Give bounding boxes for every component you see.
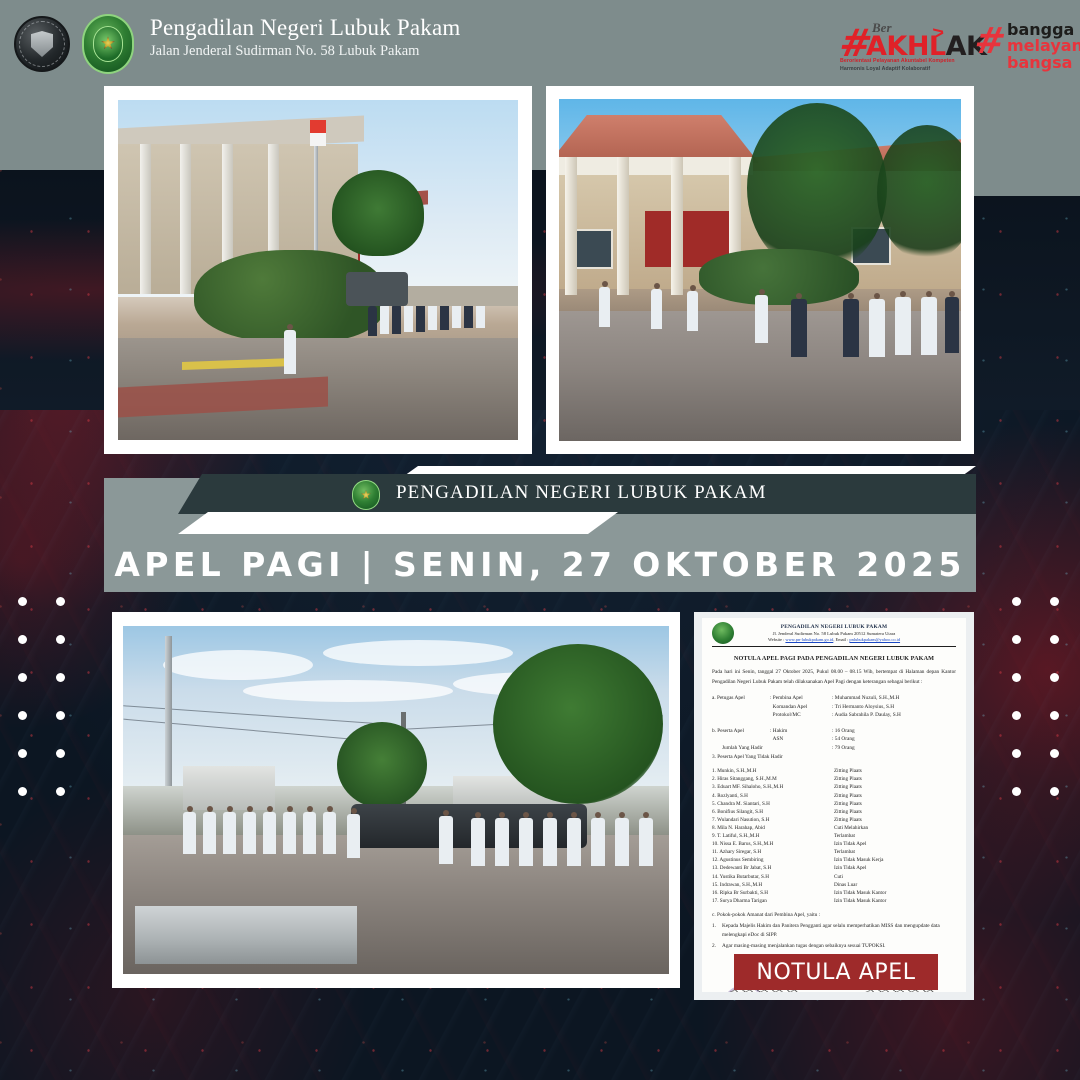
letterhead-line3: Website : www.pn-lubukpakam.go.id, Email… xyxy=(712,637,956,642)
photo3-person-15 xyxy=(591,818,605,866)
list-item: 3. Eduart MF. Sihaloho, S.H.,M.HZitting … xyxy=(712,783,956,791)
photo3-person-8 xyxy=(323,812,336,854)
list-item: 15. Indrawan, S.H.,M.HDinas Luar xyxy=(712,881,956,889)
court-name: Pengadilan Negeri Lubuk Pakam xyxy=(150,16,460,40)
photo-apel-formation-parking xyxy=(123,626,669,974)
bangga-melayani-bangsa-logo: # bangga melayani bangsa xyxy=(975,20,1075,72)
photo1-person-1 xyxy=(368,306,377,336)
document-letterhead: PENGADILAN NEGERI LUBUK PAKAM Jl. Jender… xyxy=(702,618,966,642)
jumlah-row: Jumlah Yang Hadir : 79 Orang xyxy=(712,744,956,753)
peserta-label: b. Peserta Apel xyxy=(712,727,770,736)
jumlah-label: Jumlah Yang Hadir xyxy=(712,744,832,753)
photo1-column-2 xyxy=(180,144,191,294)
photo1-palm-tree xyxy=(332,170,424,256)
photo2-person-3 xyxy=(687,291,698,331)
court-address: Jalan Jenderal Sudirman No. 58 Lubuk Pak… xyxy=(150,42,460,60)
photo3-big-tree xyxy=(493,644,663,804)
photo3-cloud-1 xyxy=(163,650,313,680)
list-item: 4. Rozlyanti, S.HZitting Plaats xyxy=(712,792,956,800)
dot xyxy=(18,635,27,644)
banner-ribbon-text: PENGADILAN NEGERI LUBUK PAKAM xyxy=(396,482,767,504)
letterhead-line2: Jl. Jenderal Sudirman No. 58 Lubuk Pakam… xyxy=(712,631,956,636)
photo3-tree-2 xyxy=(337,722,427,808)
list-item: 2. Hiras Sitanggang, S.H.,M.MZitting Pla… xyxy=(712,775,956,783)
petugas-row-3: Protokol/MC : Audia Sabrahila P. Daulay,… xyxy=(712,711,956,720)
photo3-person-9 xyxy=(347,814,360,858)
photo1-column-1 xyxy=(140,144,151,294)
tidak-hadir-label: 3. Peserta Apel Yang Tidak Hadir xyxy=(712,753,956,762)
akhlak-values-line1: Berorientasi Pelayanan Akuntabel Kompete… xyxy=(840,58,955,64)
list-item: 9. T. Latiful, S.H.,M.HTerlambat xyxy=(712,832,956,840)
photo3-person-6 xyxy=(283,812,296,854)
photo3-person-16 xyxy=(615,818,629,866)
photo1-person-2 xyxy=(380,304,389,334)
peserta-value-2: : 54 Orang xyxy=(832,735,956,744)
photo2-person-7 xyxy=(921,297,937,355)
photo2-person-5 xyxy=(869,299,885,357)
photo2-person-officer-1 xyxy=(791,299,807,357)
photo2-person-2 xyxy=(651,289,662,329)
petugas-label: a. Petugas Apel xyxy=(712,694,770,703)
list-item: 1. Munkin, S.H.,M.HZitting Plaats xyxy=(712,767,956,775)
photo1-person-officer xyxy=(284,330,296,374)
seal-inner xyxy=(93,26,123,62)
dot xyxy=(18,749,27,758)
peserta-key-2: ASN xyxy=(770,735,832,744)
akhlak-values-line2: Harmonis Loyal Adaptif Kolaboratif xyxy=(840,66,930,72)
poster-root: Pengadilan Negeri Lubuk Pakam Jalan Jend… xyxy=(0,0,1080,1080)
dot xyxy=(1012,711,1021,720)
dot xyxy=(1012,749,1021,758)
notula-apel-label: NOTULA APEL xyxy=(734,954,938,990)
photo2-column-1 xyxy=(565,157,577,295)
photo2-person-1 xyxy=(599,287,610,327)
list-item: 14. Yustika Butarbutar, S.HCuti xyxy=(712,873,956,881)
photo2-person-8 xyxy=(945,297,959,353)
document-seal-icon xyxy=(712,622,734,644)
list-item: 7. Wulandari Nasution, S.HZitting Plaats xyxy=(712,816,956,824)
peserta-value-1: : 16 Orang xyxy=(832,727,956,736)
photo2-person-officer-2 xyxy=(843,299,859,357)
bangga-line3: bangsa xyxy=(1007,55,1080,71)
document-title: NOTULA APEL PAGI PADA PENGADILAN NEGERI … xyxy=(712,655,956,662)
petugas-name-2: : Tri Hermanto Aloysius, S.H xyxy=(832,703,956,712)
peserta-key-1: : Hakim xyxy=(770,727,832,736)
dot xyxy=(56,749,65,758)
dot xyxy=(56,711,65,720)
list-item: 11. Azhary Siregar, S.HTerlambat xyxy=(712,848,956,856)
dot xyxy=(1012,635,1021,644)
photo1-person-3 xyxy=(392,304,401,334)
dot xyxy=(18,597,27,606)
photo3-person-14 xyxy=(567,818,581,866)
photo2-canopy xyxy=(559,157,753,175)
letterhead-email-label: , Email : xyxy=(833,637,848,642)
ribbon-seal-star xyxy=(361,490,371,500)
photo3-person-11 xyxy=(495,818,509,866)
document-peserta-section: b. Peserta Apel : Hakim : 16 Orang ASN :… xyxy=(712,727,956,761)
dot xyxy=(1050,597,1059,606)
list-item: 12. Agustinus SembiringIzin Tidak Masuk … xyxy=(712,856,956,864)
petugas-row-2: Komandan Apel : Tri Hermanto Aloysius, S… xyxy=(712,703,956,712)
notula-document: PENGADILAN NEGERI LUBUK PAKAM Jl. Jender… xyxy=(702,618,966,992)
petugas-row-1: a. Petugas Apel : Pembina Apel : Muhamma… xyxy=(712,694,956,703)
bangga-hash: # xyxy=(972,24,1009,60)
akhlak-arrow-icon: > xyxy=(932,22,946,45)
photo2-column-2 xyxy=(617,157,629,295)
dot xyxy=(18,711,27,720)
photo1-person-4 xyxy=(404,302,413,332)
list-item: 16. Ripka Br Surbakti, S.HIzin Tidak Mas… xyxy=(712,889,956,897)
dot xyxy=(1012,597,1021,606)
petugas-name-3: : Audia Sabrahila P. Daulay, S.H xyxy=(832,711,956,720)
amanat-point-2: 2. Agar masing-masing menjalankan tugas … xyxy=(712,942,956,951)
photo3-tower xyxy=(165,636,172,786)
peserta-row-2: ASN : 54 Orang xyxy=(712,735,956,744)
photo3-person-2 xyxy=(203,812,216,854)
dot xyxy=(56,635,65,644)
photo3-stage-platform xyxy=(135,906,357,964)
list-item: 6. Bonifius Silangit, S.HZitting Plaats xyxy=(712,808,956,816)
photo3-person-3 xyxy=(223,812,236,854)
dot xyxy=(56,787,65,796)
berakhlak-logo: # Ber AKHLAK > Berorientasi Pelayanan Ak… xyxy=(840,18,960,74)
jumlah-value: : 79 Orang xyxy=(832,744,956,753)
page-title: APEL PAGI | SENIN, 27 OKTOBER 2025 xyxy=(104,536,976,592)
photo2-column-3 xyxy=(671,157,683,295)
letterhead-email-link[interactable]: pnlubukpakam@yahoo.co.id xyxy=(849,637,900,642)
petugas-name-1: : Muhammad Nuzuli, S.H.,M.H xyxy=(832,694,956,703)
akhlak-values: Berorientasi Pelayanan Akuntabel Kompete… xyxy=(840,58,960,74)
bangga-lines: bangga melayani bangsa xyxy=(1007,22,1080,71)
dot xyxy=(18,673,27,682)
photo3-person-leader xyxy=(439,816,453,864)
document-amanat-section: c. Pokok-pokok Amanat dari Pembina Apel,… xyxy=(712,911,956,951)
photo2-palm-tree-1 xyxy=(747,103,887,273)
dot xyxy=(1012,673,1021,682)
photo2-person-4 xyxy=(755,295,768,343)
photo-frame-3 xyxy=(112,612,680,988)
document-intro: Pada hari ini Senin, tanggal 27 Oktober … xyxy=(712,667,956,687)
petugas-role-2: Komandan Apel xyxy=(770,703,832,712)
petugas-role-3: Protokol/MC xyxy=(770,711,832,720)
document-divider xyxy=(712,646,956,647)
court-green-seal-icon xyxy=(82,14,134,74)
photo1-flag xyxy=(310,120,326,146)
photo3-person-4 xyxy=(243,812,256,854)
photo1-parked-car xyxy=(346,272,408,306)
header-titles: Pengadilan Negeri Lubuk Pakam Jalan Jend… xyxy=(150,16,460,60)
photo3-person-17 xyxy=(639,818,653,866)
list-item: 8. Mila N. Harahap, AbidCuti Melahirkan xyxy=(712,824,956,832)
photo-apel-lineup-front-office xyxy=(559,99,961,441)
document-petugas-section: a. Petugas Apel : Pembina Apel : Muhamma… xyxy=(712,694,956,720)
footer: INSTAGRAM lbp.districtcourt f FACEBOOK P… xyxy=(0,990,1080,1080)
photo-frame-1 xyxy=(104,86,532,454)
photo3-cloud-2 xyxy=(323,640,513,666)
dot xyxy=(18,787,27,796)
dot xyxy=(56,597,65,606)
photo2-person-6 xyxy=(895,297,911,355)
banner-white-stripe-mid xyxy=(178,512,618,534)
letterhead-website-label: Website : xyxy=(768,637,784,642)
photo3-person-12 xyxy=(519,818,533,866)
list-item: 13. Dedewanti Br Jabat, S.HIzin Tidak Ap… xyxy=(712,864,956,872)
photo3-person-1 xyxy=(183,812,196,854)
dot xyxy=(1050,635,1059,644)
petugas-role-1: : Pembina Apel xyxy=(770,694,832,703)
photo3-person-10 xyxy=(471,818,485,866)
photo1-person-5 xyxy=(416,302,425,332)
photo3-person-13 xyxy=(543,818,557,866)
photo3-person-5 xyxy=(263,812,276,854)
amanat-point-1: 1. Kepada Majelis Hakim dan Panitera Pen… xyxy=(712,922,956,940)
list-item: 10. Nissa E. Barus, S.H.,M.HIzin Tidak A… xyxy=(712,840,956,848)
dot xyxy=(1050,749,1059,758)
dot xyxy=(1050,711,1059,720)
dot xyxy=(56,673,65,682)
dot xyxy=(1050,787,1059,796)
court-green-seal-icon xyxy=(352,480,380,510)
peserta-row-1: b. Peserta Apel : Hakim : 16 Orang xyxy=(712,727,956,736)
amanat-label: c. Pokok-pokok Amanat dari Pembina Apel,… xyxy=(712,911,956,920)
photo-court-front-flagpole xyxy=(118,100,518,440)
photo2-hedge xyxy=(699,249,859,305)
dot xyxy=(1050,673,1059,682)
photo3-cloud-3 xyxy=(243,680,453,702)
photo2-window-1 xyxy=(571,229,613,269)
photo-frame-2 xyxy=(546,86,974,454)
letterhead-website-link[interactable]: www.pn-lubukpakam.go.id xyxy=(785,637,833,642)
tidak-hadir-list: 1. Munkin, S.H.,M.HZitting Plaats 2. Hir… xyxy=(712,767,956,905)
photo3-building-1 xyxy=(183,766,275,810)
supreme-court-badge-icon xyxy=(14,16,70,72)
list-item: 5. Chandra M. Siantari, S.HZitting Plaat… xyxy=(712,800,956,808)
letterhead-line1: PENGADILAN NEGERI LUBUK PAKAM xyxy=(712,624,956,630)
dot xyxy=(1012,787,1021,796)
akhlak-word: AKHLAK xyxy=(866,33,986,60)
list-item: 17. Surya Dharma TariganIzin Tidak Masuk… xyxy=(712,897,956,905)
photo3-person-7 xyxy=(303,812,316,854)
seal-star xyxy=(101,36,115,50)
